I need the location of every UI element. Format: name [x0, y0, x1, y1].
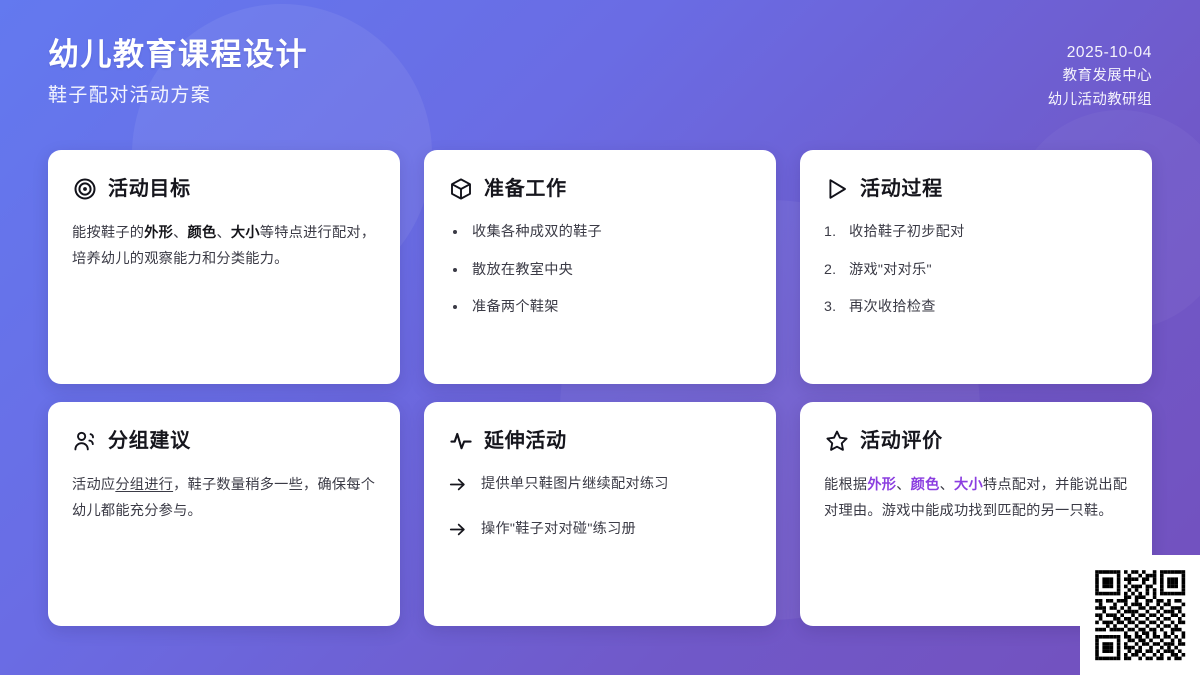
plain-text: 能按鞋子的 — [72, 225, 144, 241]
plain-text: 、 — [216, 225, 230, 241]
highlight-text: 外形 — [867, 477, 896, 493]
box-icon — [448, 176, 473, 201]
plain-text: 活动应 — [72, 477, 115, 493]
play-icon — [824, 176, 849, 201]
list-item: 准备两个鞋架 — [448, 296, 752, 319]
slide-root: 幼儿教育课程设计 鞋子配对活动方案 2025-10-04 教育发展中心 幼儿活动… — [0, 0, 1200, 675]
emphasis-text: 外形 — [144, 225, 173, 241]
plain-text: 、 — [940, 477, 954, 493]
card-header: 延伸活动 — [448, 428, 752, 453]
card-body-text: 能按鞋子的外形、颜色、大小等特点进行配对，培养幼儿的观察能力和分类能力。 — [72, 221, 376, 273]
card-activity-goal[interactable]: 活动目标能按鞋子的外形、颜色、大小等特点进行配对，培养幼儿的观察能力和分类能力。 — [48, 150, 400, 384]
list-item: 收拾鞋子初步配对 — [824, 221, 1128, 244]
card-title: 分组建议 — [108, 431, 191, 451]
card-title: 活动过程 — [860, 179, 943, 199]
card-activity-process[interactable]: 活动过程收拾鞋子初步配对游戏"对对乐"再次收拾检查 — [800, 150, 1152, 384]
plain-text: 、 — [896, 477, 910, 493]
card-header: 准备工作 — [448, 176, 752, 201]
star-icon — [824, 428, 849, 453]
header-team: 幼儿活动教研组 — [1048, 89, 1152, 112]
arrow-right-icon — [448, 520, 467, 539]
numbered-list: 收拾鞋子初步配对游戏"对对乐"再次收拾检查 — [824, 221, 1128, 319]
card-title: 活动评价 — [860, 431, 943, 451]
list-item-label: 操作"鞋子对对碰"练习册 — [481, 518, 636, 541]
arrow-right-icon — [448, 475, 467, 494]
card-preparation[interactable]: 准备工作收集各种成双的鞋子散放在教室中央准备两个鞋架 — [424, 150, 776, 384]
plain-text: 能根据 — [824, 477, 867, 493]
list-item: 操作"鞋子对对碰"练习册 — [448, 518, 752, 541]
underlined-text: 分组进行 — [115, 477, 173, 493]
list-item: 散放在教室中央 — [448, 259, 752, 282]
card-header: 活动过程 — [824, 176, 1128, 201]
page-title: 幼儿教育课程设计 — [48, 36, 308, 75]
header-organization: 教育发展中心 — [1063, 65, 1152, 88]
list-item: 游戏"对对乐" — [824, 259, 1128, 282]
qr-code-panel — [1080, 555, 1200, 675]
list-item: 提供单只鞋图片继续配对练习 — [448, 473, 752, 496]
card-title: 准备工作 — [484, 179, 567, 199]
header-date: 2025-10-04 — [1067, 40, 1152, 65]
card-header: 活动目标 — [72, 176, 376, 201]
qr-code — [1088, 563, 1192, 667]
emphasis-text: 大小 — [231, 225, 260, 241]
header-meta-block: 2025-10-04 教育发展中心 幼儿活动教研组 — [1048, 36, 1152, 112]
emphasis-text: 颜色 — [188, 225, 217, 241]
list-item: 再次收拾检查 — [824, 296, 1128, 319]
list-item-label: 提供单只鞋图片继续配对练习 — [481, 473, 669, 496]
card-body-text: 活动应分组进行，鞋子数量稍多一些，确保每个幼儿都能充分参与。 — [72, 473, 376, 525]
page-subtitle: 鞋子配对活动方案 — [48, 84, 308, 109]
card-extension-activity[interactable]: 延伸活动提供单只鞋图片继续配对练习操作"鞋子对对碰"练习册 — [424, 402, 776, 626]
highlight-text: 颜色 — [911, 477, 940, 493]
card-body-text: 能根据外形、颜色、大小特点配对，并能说出配对理由。游戏中能成功找到匹配的另一只鞋… — [824, 473, 1128, 525]
activity-pulse-icon — [448, 428, 473, 453]
bullet-list: 收集各种成双的鞋子散放在教室中央准备两个鞋架 — [448, 221, 752, 319]
card-header: 活动评价 — [824, 428, 1128, 453]
header-title-block: 幼儿教育课程设计 鞋子配对活动方案 — [48, 36, 308, 108]
slide-header: 幼儿教育课程设计 鞋子配对活动方案 2025-10-04 教育发展中心 幼儿活动… — [0, 0, 1200, 148]
card-title: 延伸活动 — [484, 431, 567, 451]
target-icon — [72, 176, 97, 201]
card-grid: 活动目标能按鞋子的外形、颜色、大小等特点进行配对，培养幼儿的观察能力和分类能力。… — [48, 150, 1152, 626]
users-icon — [72, 428, 97, 453]
card-header: 分组建议 — [72, 428, 376, 453]
highlight-text: 大小 — [954, 477, 983, 493]
plain-text: 、 — [173, 225, 187, 241]
card-grouping-advice[interactable]: 分组建议活动应分组进行，鞋子数量稍多一些，确保每个幼儿都能充分参与。 — [48, 402, 400, 626]
card-title: 活动目标 — [108, 179, 191, 199]
arrow-list: 提供单只鞋图片继续配对练习操作"鞋子对对碰"练习册 — [448, 473, 752, 540]
list-item: 收集各种成双的鞋子 — [448, 221, 752, 244]
